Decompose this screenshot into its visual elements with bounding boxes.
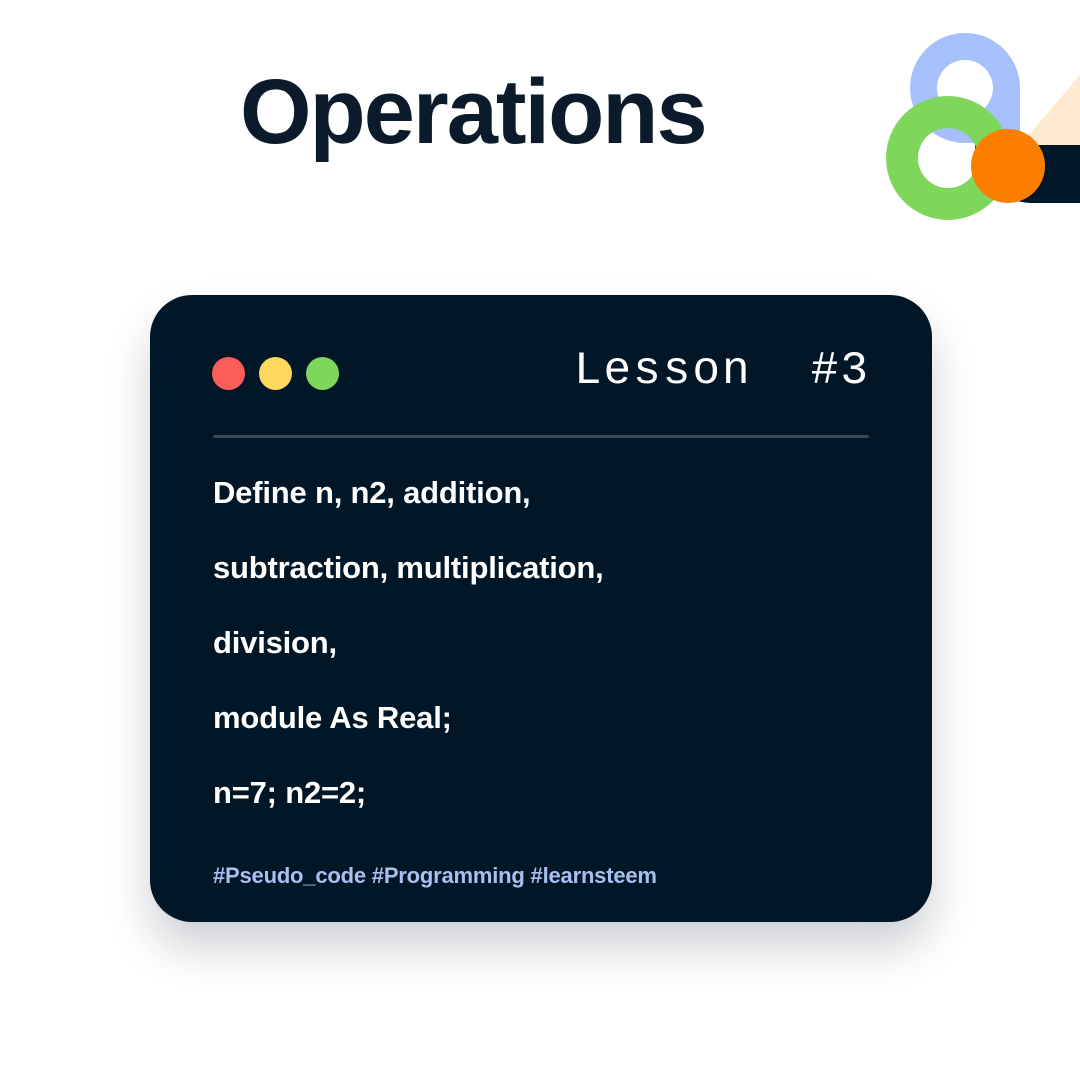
close-dot[interactable] xyxy=(212,357,245,390)
green-ring-shape xyxy=(880,18,1080,223)
code-line: module As Real; xyxy=(213,680,892,755)
code-line: n=7; n2=2; xyxy=(213,755,892,830)
code-body: Define n, n2, addition, subtraction, mul… xyxy=(213,455,892,830)
window-controls xyxy=(212,357,339,390)
lesson-label: Lesson #3 xyxy=(574,345,870,397)
orange-circle-shape xyxy=(971,129,1045,203)
code-line: subtraction, multiplication, xyxy=(213,530,892,605)
code-line: Define n, n2, addition, xyxy=(213,455,892,530)
card-divider xyxy=(213,435,869,438)
code-line: division, xyxy=(213,605,892,680)
page-title: Operations xyxy=(240,62,706,163)
slide-canvas: Operations xyxy=(0,0,1080,1080)
card-header: Lesson #3 xyxy=(150,295,932,435)
minimize-dot[interactable] xyxy=(259,357,292,390)
brand-logo xyxy=(880,18,1080,223)
hashtag-list[interactable]: #Pseudo_code #Programming #learnsteem xyxy=(213,863,657,889)
code-card: Lesson #3 Define n, n2, addition, subtra… xyxy=(150,295,932,922)
maximize-dot[interactable] xyxy=(306,357,339,390)
